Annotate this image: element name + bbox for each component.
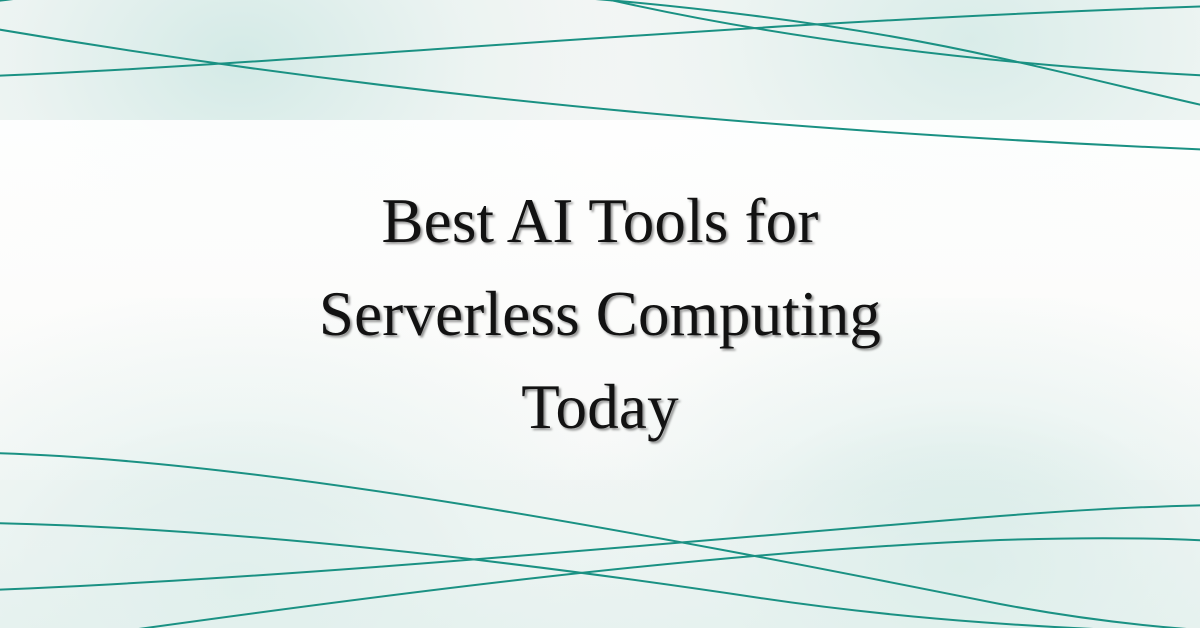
banner-card: Best AI Tools for Serverless Computing T… xyxy=(0,0,1200,628)
headline-line-1: Best AI Tools for xyxy=(110,175,1090,268)
headline-line-3: Today xyxy=(110,361,1090,454)
headline-line-2: Serverless Computing xyxy=(110,268,1090,361)
headline-block: Best AI Tools for Serverless Computing T… xyxy=(0,0,1200,628)
